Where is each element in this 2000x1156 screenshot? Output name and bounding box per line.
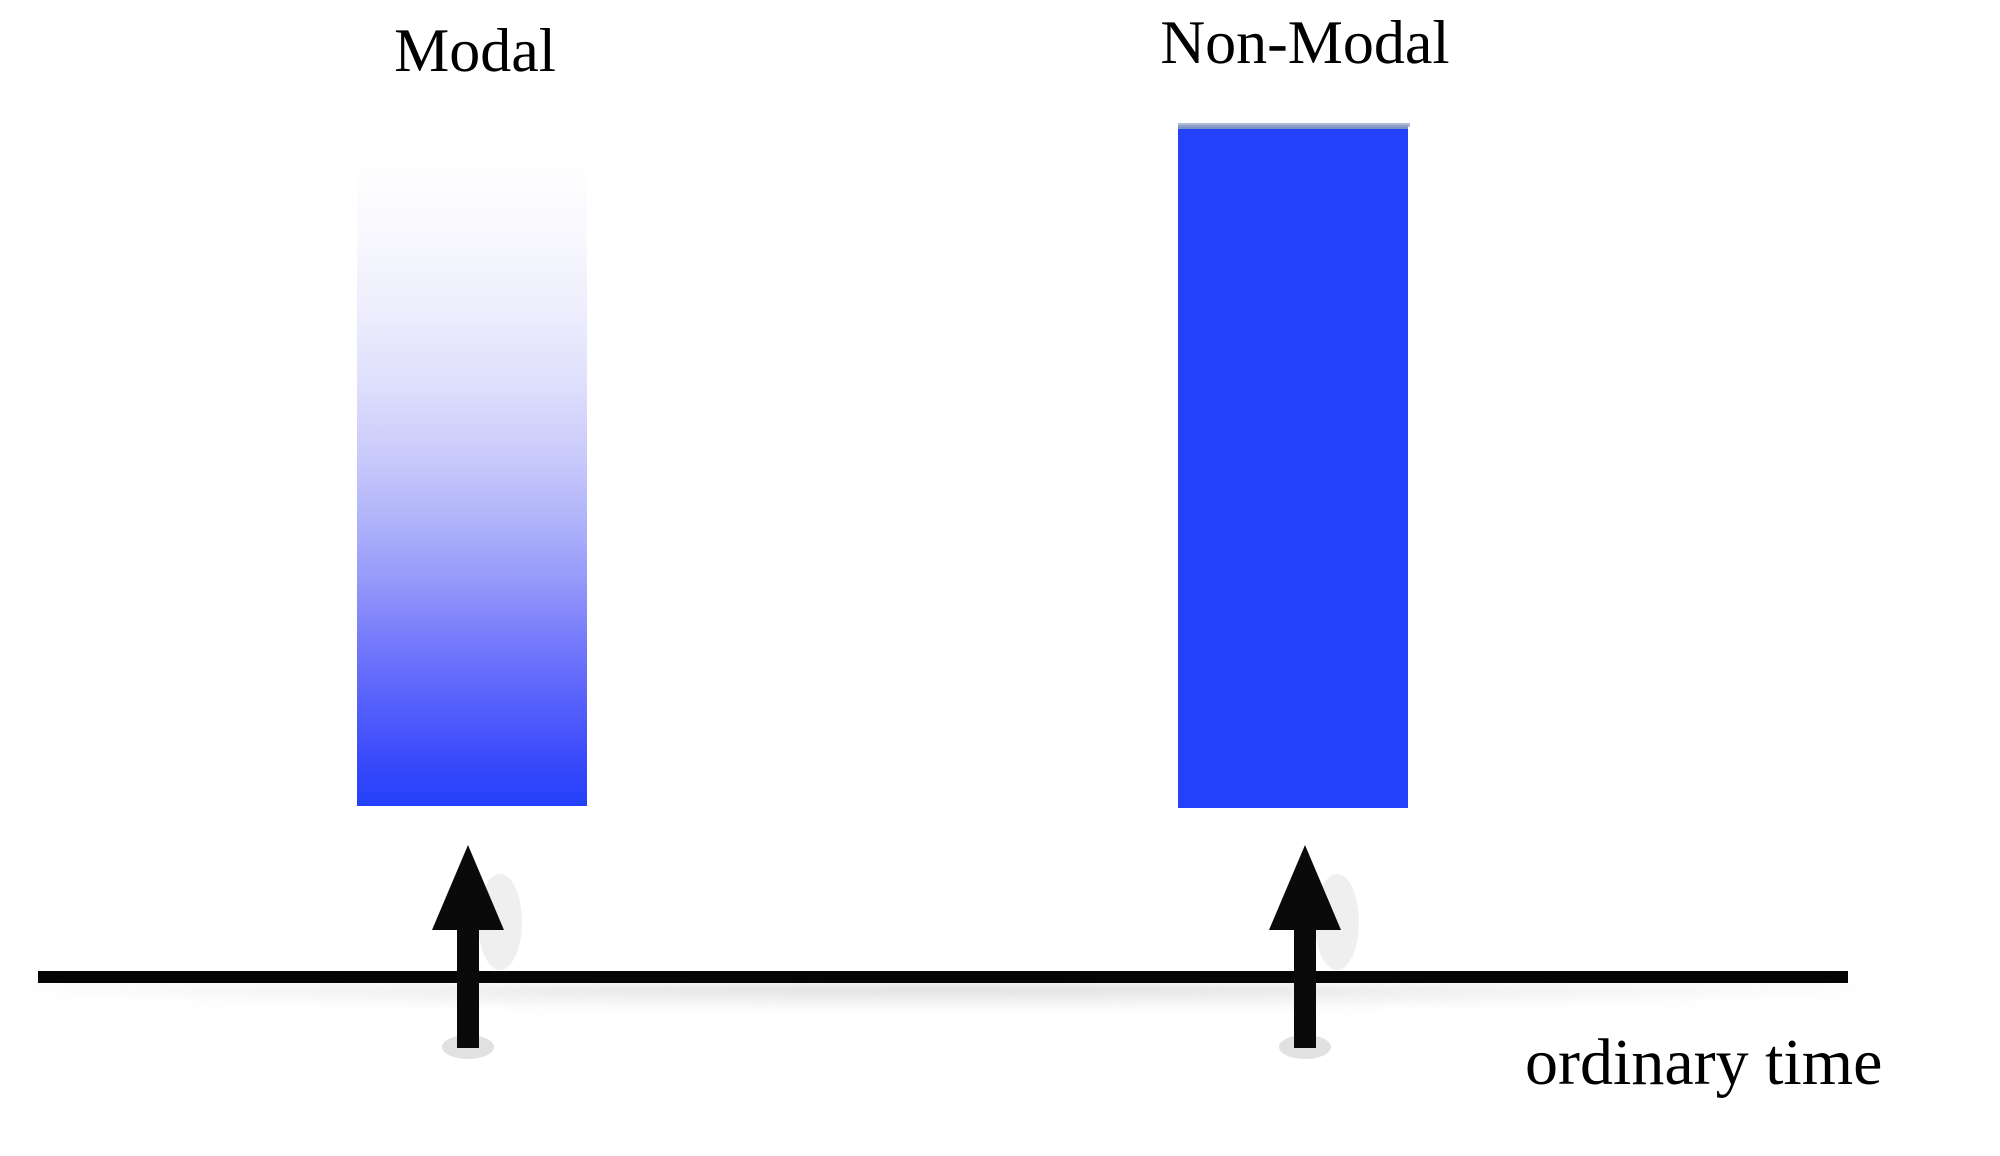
bar-label-non-modal: Non-Modal xyxy=(830,12,1780,74)
up-arrow-icon-non-modal xyxy=(1245,842,1365,1057)
bar-modal xyxy=(357,131,587,806)
diagram-canvas: Modal Non-Modal ordinary time xyxy=(0,0,2000,1156)
up-arrow-icon-modal xyxy=(408,842,528,1057)
time-axis-line xyxy=(38,971,1848,983)
axis-caption-ordinary-time: ordinary time xyxy=(1525,1030,1882,1096)
axis-shadow xyxy=(34,984,1854,1010)
bar-label-modal: Modal xyxy=(0,20,950,82)
bar-non-modal xyxy=(1178,125,1408,808)
